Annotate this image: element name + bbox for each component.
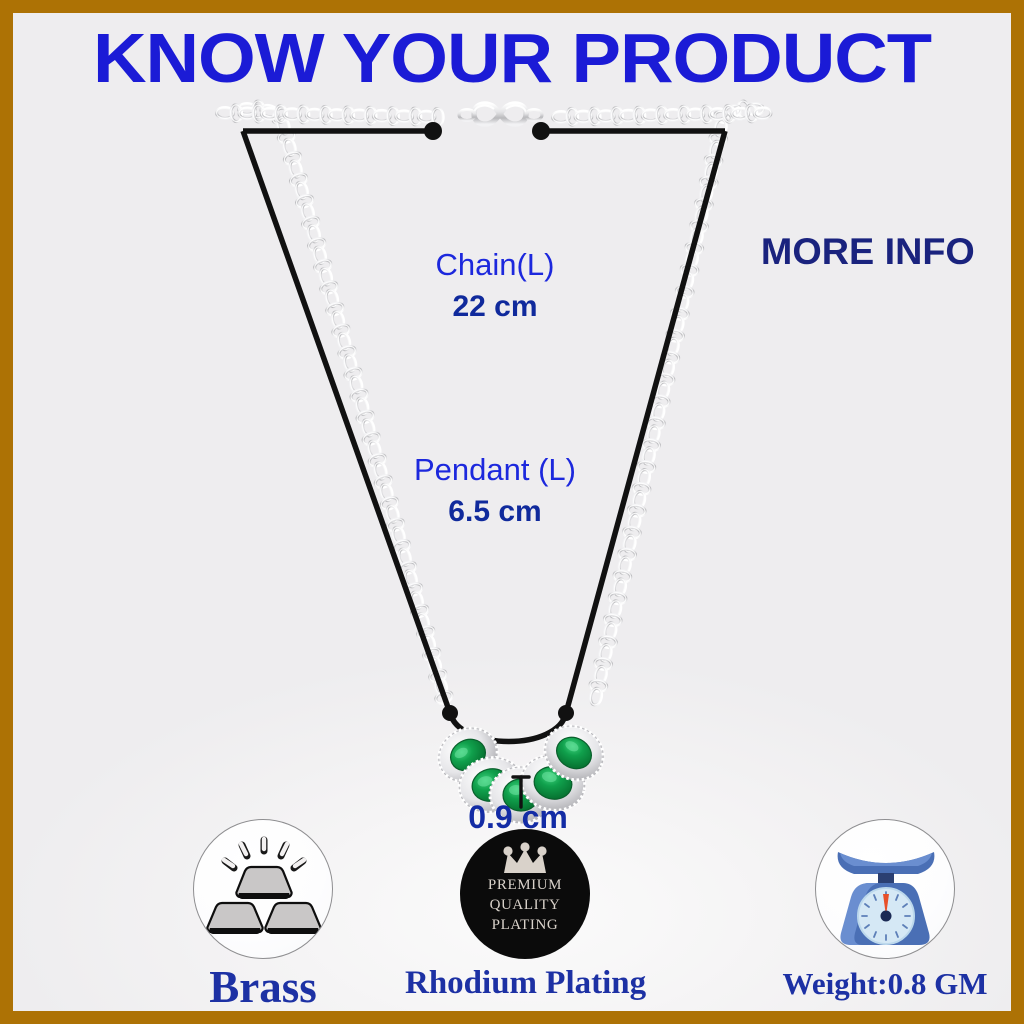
chain-left-strand: [239, 101, 454, 705]
chain-length-caption: Chain(L) 22 cm: [345, 245, 645, 329]
pendant-length-caption: Pendant (L) 6.5 cm: [335, 450, 655, 534]
chain-length-value: 22 cm: [345, 285, 645, 329]
guide-dot-bottom-left: [442, 705, 458, 721]
feature-brass-caption: Brass: [143, 961, 383, 1011]
gold-bars-icon: [193, 819, 333, 959]
guide-dot-top-right: [532, 122, 550, 140]
product-infographic-poster: KNOW YOUR PRODUCT MORE INFO: [0, 0, 1024, 1024]
feature-rhodium-plating: PREMIUM QUALITY PLATING Rhodium Plating: [405, 829, 645, 1003]
s-hook-clasp-icon: [459, 104, 542, 124]
brass-badge: [143, 819, 383, 959]
badge-text: PREMIUM QUALITY PLATING: [460, 875, 590, 935]
badge-line-1: PREMIUM: [460, 875, 590, 895]
chain-length-label: Chain(L): [345, 245, 645, 285]
feature-weight-caption: Weight:0.8 GM: [765, 964, 1005, 1004]
feature-weight: Weight:0.8 GM: [765, 819, 1005, 1004]
feature-plating-caption: Rhodium Plating: [405, 963, 645, 1003]
guide-dot-bottom-right: [558, 705, 574, 721]
pendant-length-value: 6.5 cm: [335, 490, 655, 534]
pendant-length-label: Pendant (L): [335, 450, 655, 490]
guide-dot-top-left: [424, 122, 442, 140]
feature-brass: Brass: [143, 819, 383, 1011]
kitchen-scale-icon: [815, 819, 955, 959]
measurement-guides: [243, 122, 725, 742]
chain-right-strand: [589, 100, 764, 706]
badge-line-3: PLATING: [460, 915, 590, 935]
premium-quality-badge-icon: PREMIUM QUALITY PLATING: [460, 829, 590, 959]
badge-line-2: QUALITY: [460, 895, 590, 915]
poster-canvas: KNOW YOUR PRODUCT MORE INFO: [13, 13, 1011, 1011]
weight-badge: [765, 819, 1005, 959]
plating-badge: PREMIUM QUALITY PLATING: [405, 829, 645, 959]
crown-icon: [503, 842, 546, 873]
